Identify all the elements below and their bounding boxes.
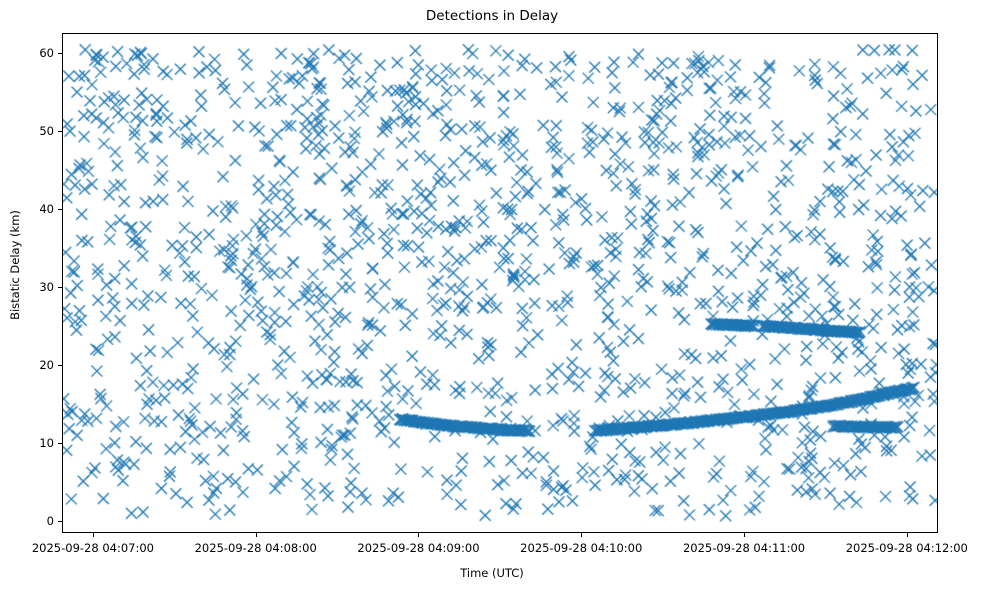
- x-tick-label: 2025-09-28 04:12:00: [846, 541, 968, 555]
- x-tick-label: 2025-09-28 04:11:00: [683, 541, 805, 555]
- y-axis-label: Bistatic Delay (km): [8, 125, 22, 405]
- y-tick-label: 10: [6, 436, 54, 450]
- x-tick-mark: [744, 533, 745, 537]
- x-tick-mark: [256, 533, 257, 537]
- y-tick-mark: [58, 209, 62, 210]
- y-tick-mark: [58, 287, 62, 288]
- x-tick-mark: [93, 533, 94, 537]
- y-tick-label: 0: [6, 514, 54, 528]
- x-tick-mark: [418, 533, 419, 537]
- y-tick-mark: [58, 365, 62, 366]
- y-tick-mark: [58, 53, 62, 54]
- page-title: Detections in Delay: [0, 8, 984, 24]
- x-tick-label: 2025-09-28 04:10:00: [520, 541, 642, 555]
- x-axis-label: Time (UTC): [0, 566, 984, 580]
- x-tick-label: 2025-09-28 04:08:00: [195, 541, 317, 555]
- y-tick-mark: [58, 131, 62, 132]
- y-tick-mark: [58, 443, 62, 444]
- x-tick-label: 2025-09-28 04:07:00: [32, 541, 154, 555]
- x-tick-mark: [581, 533, 582, 537]
- y-tick-mark: [58, 521, 62, 522]
- plot-axes: [62, 33, 938, 533]
- x-tick-mark: [907, 533, 908, 537]
- figure: Detections in Delay 2025-09-28 04:07:002…: [0, 0, 984, 590]
- y-tick-label: 60: [6, 46, 54, 60]
- x-tick-label: 2025-09-28 04:09:00: [357, 541, 479, 555]
- scatter-canvas: [63, 34, 937, 532]
